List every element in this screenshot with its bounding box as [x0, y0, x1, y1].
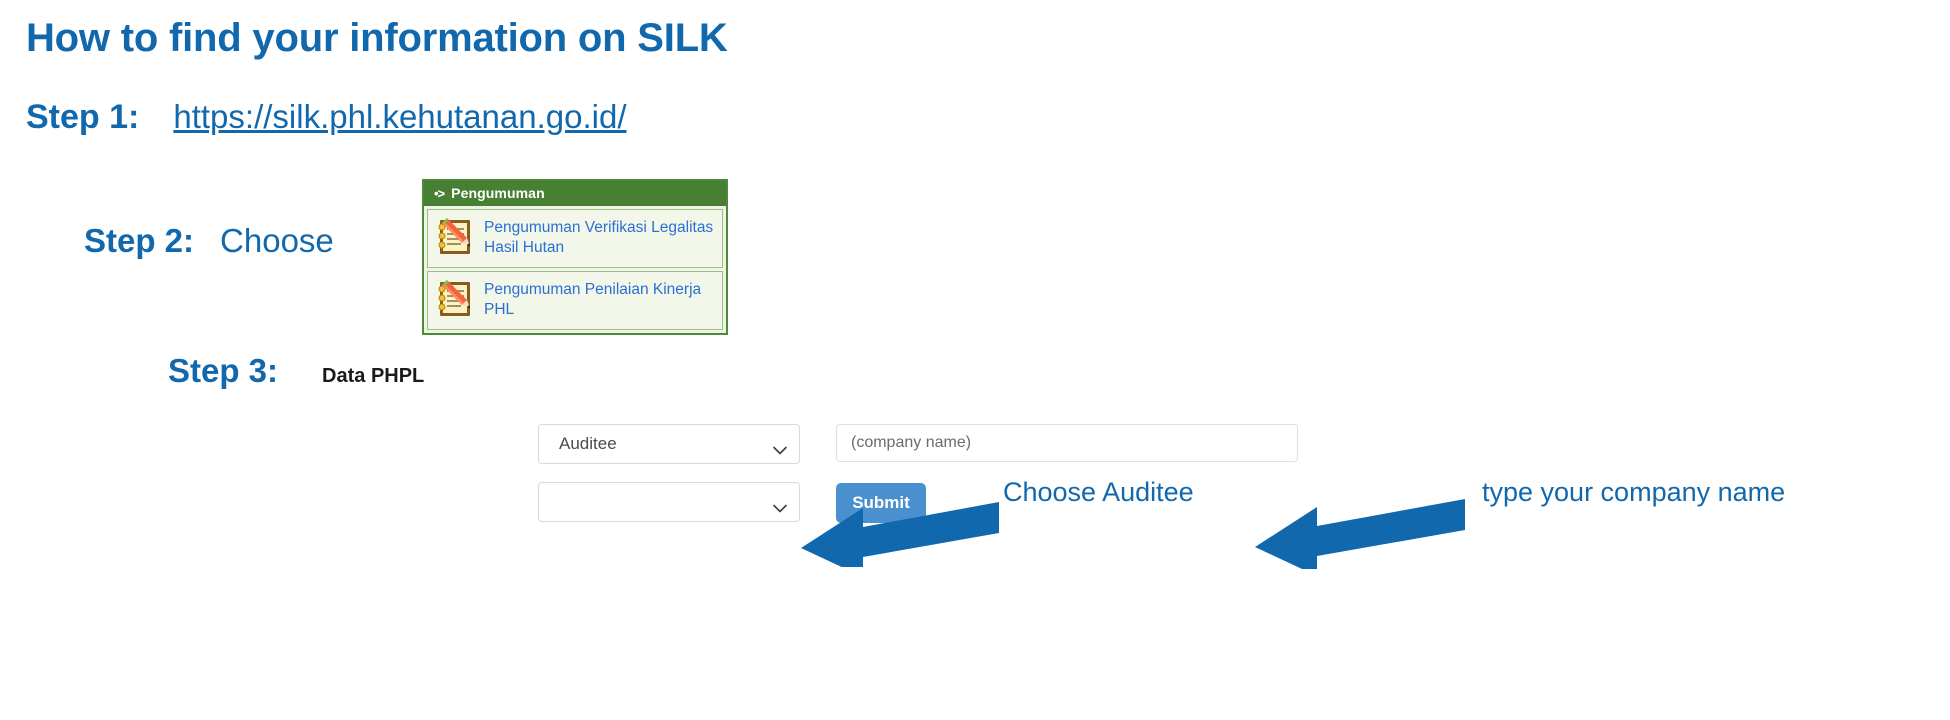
pengumuman-item-verifikasi-legalitas[interactable]: Pengumuman Verifikasi Legalitas Hasil Hu… — [427, 209, 723, 268]
data-select-value: Auditee — [559, 434, 617, 454]
notepad-pencil-icon — [435, 279, 475, 319]
type-company-name-annotation: type your company name — [1482, 477, 1785, 508]
notepad-pencil-icon — [435, 217, 475, 257]
step-1-row: Step 1: https://silk.phl.kehutanan.go.id… — [26, 98, 626, 137]
status-select[interactable] — [538, 482, 800, 522]
pengumuman-panel-title: Pengumuman — [451, 186, 545, 200]
step-3-label: Step 3: — [168, 352, 278, 390]
company-name-placeholder: (company name) — [851, 434, 971, 452]
step-2-instruction: Choose — [220, 222, 334, 260]
type-company-name-arrow — [1255, 497, 1467, 574]
data-select[interactable]: Auditee — [538, 424, 800, 464]
page-title: How to find your information on SILK — [26, 16, 728, 61]
pengumuman-item-label: Pengumuman Penilaian Kinerja PHL — [484, 279, 716, 321]
choose-auditee-arrow — [801, 495, 1001, 572]
step-2-label: Step 2: — [84, 222, 194, 260]
chevron-down-icon — [773, 498, 787, 507]
choose-auditee-annotation: Choose Auditee — [1003, 477, 1194, 508]
pengumuman-item-penilaian-kinerja[interactable]: Pengumuman Penilaian Kinerja PHL — [427, 271, 723, 330]
pengumuman-item-label: Pengumuman Verifikasi Legalitas Hasil Hu… — [484, 217, 716, 259]
step-2-row: Step 2: Choose — [84, 222, 334, 260]
left-arrow-icon — [801, 495, 1001, 572]
dot-arrow-icon: •> — [434, 187, 444, 200]
company-name-input[interactable]: (company name) — [836, 424, 1298, 462]
pengumuman-panel: •> Pengumuman — [422, 179, 728, 335]
chevron-down-icon — [773, 440, 787, 449]
step-3-row: Step 3: Data PHPL — [168, 352, 424, 390]
step-1-label: Step 1: — [26, 98, 139, 137]
pengumuman-panel-header: •> Pengumuman — [424, 181, 726, 206]
data-phpl-heading: Data PHPL — [322, 365, 424, 388]
left-arrow-icon — [1255, 497, 1467, 574]
silk-url-link[interactable]: https://silk.phl.kehutanan.go.id/ — [173, 98, 626, 136]
